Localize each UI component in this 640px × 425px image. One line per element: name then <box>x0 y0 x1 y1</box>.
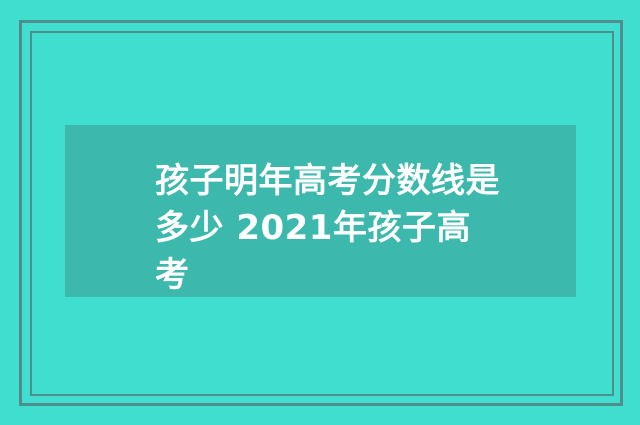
headline-text: 孩子明年高考分数线是多少 2021年孩子高考 <box>155 158 500 299</box>
headline-panel: 孩子明年高考分数线是多少 2021年孩子高考 <box>65 125 576 297</box>
banner-image: 孩子明年高考分数线是多少 2021年孩子高考 <box>0 0 640 425</box>
